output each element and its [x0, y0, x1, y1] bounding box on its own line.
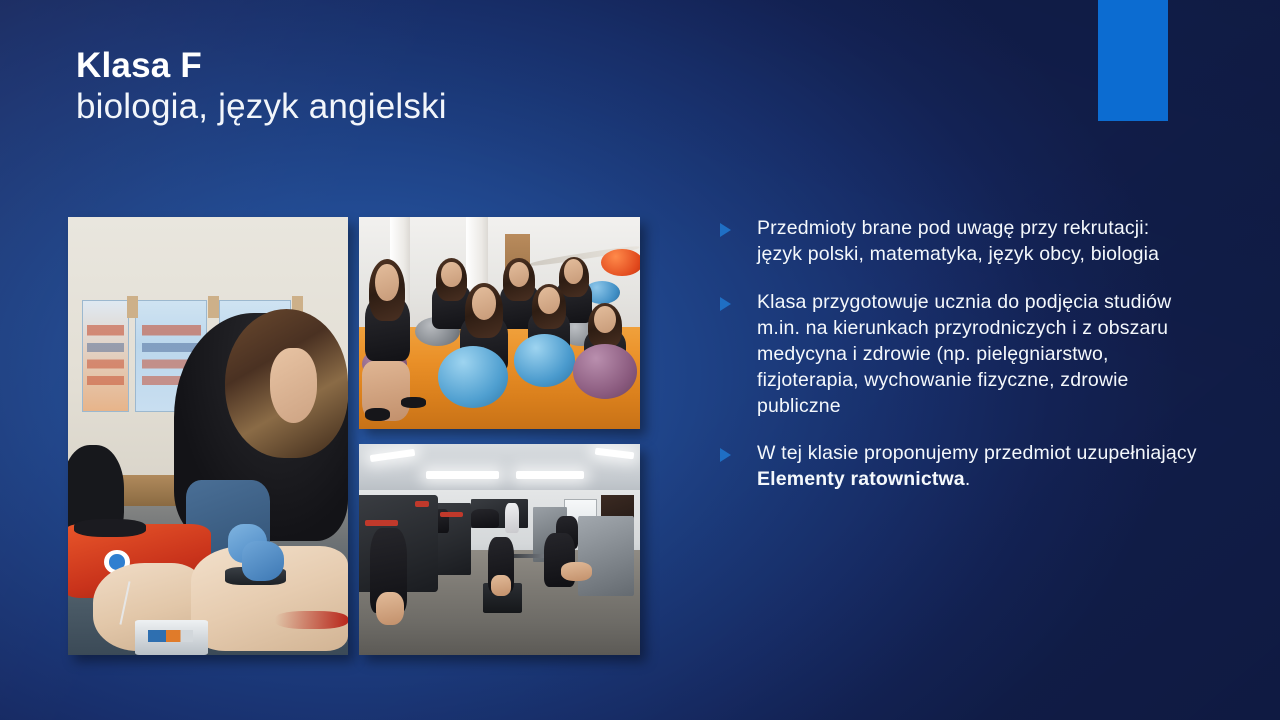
- wall-poster: [82, 300, 129, 412]
- student-face: [270, 348, 318, 422]
- bag-strap: [74, 519, 147, 537]
- machine-handle: [440, 512, 462, 517]
- student-figure: [365, 264, 410, 374]
- triangle-right-icon: [720, 297, 731, 311]
- accent-rectangle: [1098, 0, 1168, 121]
- gym-machine: [578, 516, 634, 596]
- student-limbs: [376, 592, 404, 626]
- exercise-balls-photo: [359, 217, 640, 429]
- bullet-bold-text: Elementy ratownictwa: [757, 468, 965, 490]
- red-cable: [275, 611, 348, 629]
- page-subtitle: biologia, język angielski: [76, 86, 896, 129]
- ceiling-light: [426, 471, 499, 478]
- page-title: Klasa F: [76, 45, 896, 86]
- bullet-text: Przedmioty brane pod uwagę przy rekrutac…: [757, 217, 1159, 265]
- list-item: Klasa przygotowuje ucznia do podjęcia st…: [715, 290, 1200, 420]
- gym-student: [505, 503, 519, 533]
- gym-photo: [359, 444, 640, 655]
- machine-handle: [415, 501, 429, 507]
- sneaker: [401, 397, 426, 408]
- list-item: W tej klasie proponujemy przedmiot uzupe…: [715, 441, 1200, 493]
- poster-tab: [208, 296, 219, 318]
- bullet-list: Przedmioty brane pod uwagę przy rekrutac…: [715, 216, 1200, 493]
- list-item: Przedmioty brane pod uwagę przy rekrutac…: [715, 216, 1200, 268]
- sneaker: [365, 408, 390, 421]
- triangle-right-icon: [720, 223, 731, 237]
- gym-student: [471, 509, 499, 528]
- triangle-right-icon: [720, 448, 731, 462]
- exercise-ball-blue: [438, 346, 508, 407]
- ceiling-light: [516, 471, 583, 478]
- poster-tab: [127, 296, 138, 318]
- aed-device: [135, 620, 208, 655]
- exercise-ball-blue: [514, 334, 576, 387]
- bullet-text-before-bold: W tej klasie proponujemy przedmiot uzupe…: [757, 442, 1197, 464]
- student-limbs: [561, 562, 592, 581]
- exercise-ball-purple: [573, 344, 638, 399]
- cpr-training-photo: [68, 217, 348, 655]
- blue-glove: [242, 541, 284, 580]
- machine-handle: [365, 520, 399, 526]
- student-limbs: [491, 575, 511, 596]
- presentation-slide: Klasa F biologia, język angielski: [0, 0, 1280, 720]
- exercise-ball-orange: [601, 249, 640, 277]
- slide-title-block: Klasa F biologia, język angielski: [76, 45, 896, 129]
- bullet-text-after-bold: .: [965, 468, 971, 490]
- bullet-text: Klasa przygotowuje ucznia do podjęcia st…: [757, 291, 1171, 417]
